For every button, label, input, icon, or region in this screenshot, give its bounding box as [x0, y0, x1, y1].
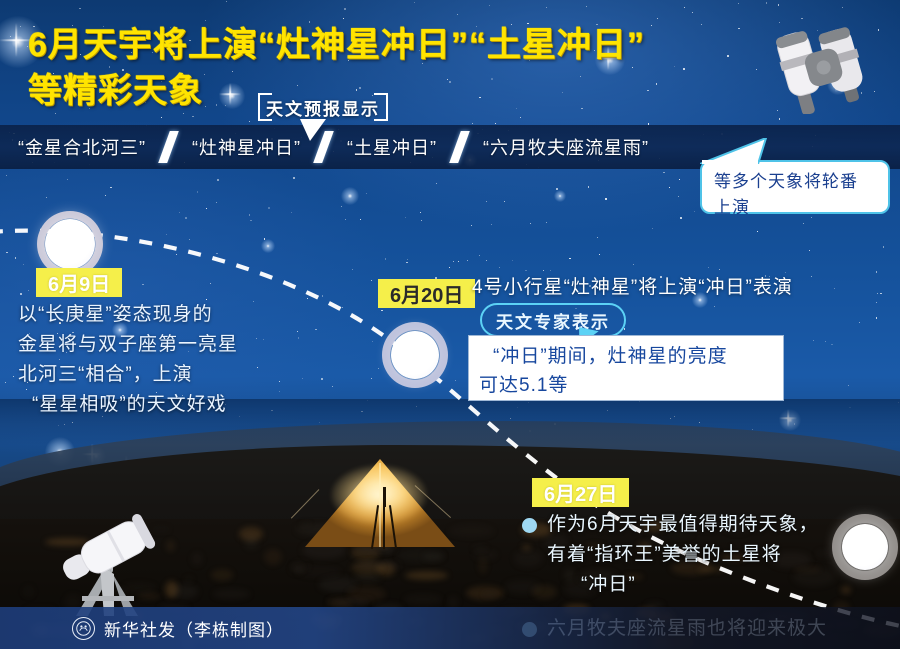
forecast-tag-tail [300, 119, 326, 141]
june27-b1-line-3: “冲日” [547, 570, 819, 600]
more-events-callout-tail [700, 138, 770, 164]
june27-b1-line-1: 作为6月天宇最值得期待天象， [547, 510, 819, 540]
expert-quote-line-2: 可达5.1等 [479, 371, 773, 400]
more-events-callout: 等多个天象将轮番 上演 [700, 160, 890, 214]
event-band-item-2: “土星冲日” [347, 134, 437, 160]
bullet-text: 作为6月天宇最值得期待天象， 有着“指环王”美誉的土星将 “冲日” [547, 510, 819, 600]
telescope-icon [40, 470, 200, 620]
forecast-tag-label: 天文预报显示 [266, 95, 380, 120]
expert-tag: 天文专家表示 [480, 303, 626, 337]
june9-line-3: 北河三“相合”，上演 [18, 360, 238, 390]
expert-quote-box: “冲日”期间，灶神星的亮度 可达5.1等 [468, 335, 784, 401]
expert-tag-label: 天文专家表示 [496, 308, 610, 333]
date-chip-june27: 6月27日 [532, 478, 629, 507]
date-chip-june20: 6月20日 [378, 279, 475, 308]
date-chip-june9: 6月9日 [36, 268, 122, 297]
event-band-item-1: “灶神星冲日” [192, 134, 301, 160]
date-chip-june20-label: 6月20日 [390, 279, 463, 308]
event-band-item-3: “六月牧夫座流星雨” [483, 134, 649, 160]
footer-credit: 新华社发（李栋制图） [0, 607, 900, 649]
june9-line-1: 以“长庚星”姿态现身的 [18, 300, 238, 330]
date-chip-june27-label: 6月27日 [544, 478, 617, 507]
more-events-line-1: 等多个天象将轮番 [714, 169, 876, 195]
xinhua-logo-icon [72, 617, 95, 640]
event-separator-slash [156, 131, 182, 163]
date-chip-june9-label: 6月9日 [48, 268, 110, 297]
june27-b1-line-2: 有着“指环王”美誉的土星将 [547, 540, 819, 570]
event-band-item-0: “金星合北河三” [18, 134, 146, 160]
forecast-tag: 天文预报显示 [258, 93, 388, 121]
infographic-poster: 6月天宇将上演“灶神星冲日”“土星冲日” 等精彩天象 “金星合北河三”“灶神星冲… [0, 0, 900, 649]
more-events-line-2: 上演 [714, 195, 876, 221]
expert-quote-line-1: “冲日”期间，灶神星的亮度 [479, 342, 773, 371]
footer-agency-text: 新华社发（李栋制图） [104, 616, 284, 641]
section-june20-headline: 4号小行星“灶神星”将上演“冲日”表演 [472, 272, 793, 299]
planet-marker-june20 [382, 322, 448, 388]
section-june9-text: 以“长庚星”姿态现身的 金星将与双子座第一亮星 北河三“相合”，上演 “星星相吸… [18, 300, 238, 420]
title-line-1: 6月天宇将上演“灶神星冲日”“土星冲日” [28, 26, 645, 64]
event-separator-slash [447, 131, 473, 163]
binoculars-icon [776, 14, 888, 114]
bullet-dot [522, 518, 537, 533]
page-title: 6月天宇将上演“灶神星冲日”“土星冲日” 等精彩天象 [28, 22, 788, 114]
list-item: 作为6月天宇最值得期待天象， 有着“指环王”美誉的土星将 “冲日” [522, 510, 827, 600]
planet-marker-june27 [832, 514, 898, 580]
title-line-2: 等精彩天象 [28, 68, 788, 114]
june9-line-4: “星星相吸”的天文好戏 [18, 390, 238, 420]
june9-line-2: 金星将与双子座第一亮星 [18, 330, 238, 360]
